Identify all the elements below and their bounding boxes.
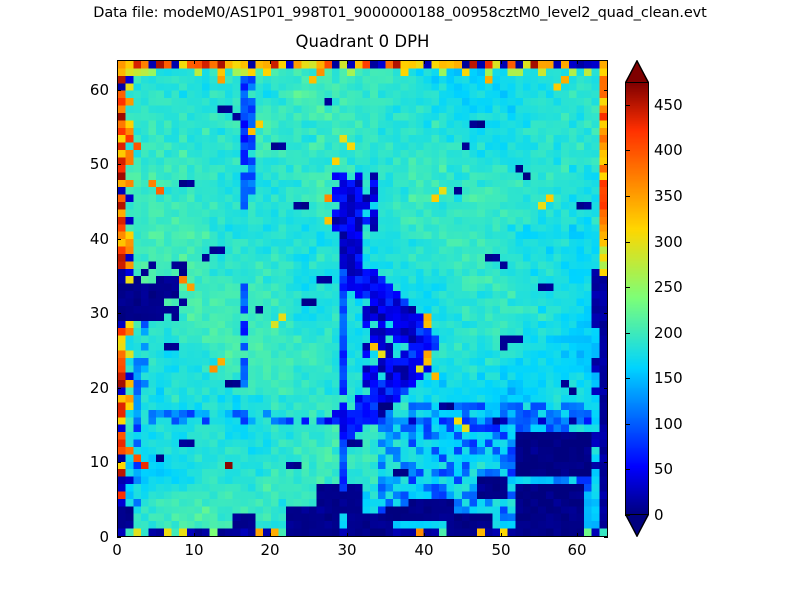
matplotlib-figure: Data file: modeM0/AS1P01_998T01_90000001… [0,0,800,600]
x-tick-mark-top [501,60,502,64]
colorbar-tick-label: 250 [654,278,683,296]
x-tick-mark-top [347,60,348,64]
x-tick-mark [347,533,348,537]
detector-plane-histogram [118,61,607,536]
x-tick-label: 50 [471,541,531,559]
x-tick-label: 10 [164,541,224,559]
y-tick-mark-right [604,164,608,165]
x-tick-label: 30 [317,541,377,559]
y-tick-mark-right [604,537,608,538]
y-tick-mark [117,462,121,463]
colorbar [625,60,649,537]
colorbar-tick-mark [625,378,630,379]
colorbar-tick-label: 300 [654,233,683,251]
figure-suptitle: Data file: modeM0/AS1P01_998T01_90000001… [0,5,800,21]
colorbar-tick-label: 200 [654,324,683,342]
y-tick-mark-right [604,90,608,91]
y-tick-mark [117,313,121,314]
y-tick-mark-right [604,388,608,389]
y-tick-mark [117,537,121,538]
colorbar-tick-mark [625,424,630,425]
x-tick-mark-top [270,60,271,64]
colorbar-extend-max-outline [625,60,649,83]
y-tick-mark [117,388,121,389]
colorbar-gradient [625,82,649,515]
x-tick-label: 40 [394,541,454,559]
colorbar-tick-label: 450 [654,96,683,114]
y-tick-mark [117,239,121,240]
x-tick-label: 20 [240,541,300,559]
y-tick-label: 10 [57,453,109,471]
y-tick-mark-right [604,313,608,314]
colorbar-tick-label: 350 [654,187,683,205]
y-tick-mark-right [604,462,608,463]
colorbar-tick-label: 150 [654,369,683,387]
x-tick-mark-top [424,60,425,64]
y-tick-label: 40 [57,230,109,248]
x-tick-mark-top [577,60,578,64]
y-tick-mark-right [604,239,608,240]
y-tick-label: 60 [57,81,109,99]
x-tick-mark [194,533,195,537]
y-tick-mark [117,164,121,165]
colorbar-tick-mark [625,287,630,288]
x-tick-mark-top [194,60,195,64]
x-tick-mark [424,533,425,537]
y-tick-label: 0 [57,528,109,546]
colorbar-tick-label: 50 [654,460,673,478]
y-tick-label: 50 [57,155,109,173]
colorbar-tick-mark [625,242,630,243]
x-tick-label: 60 [547,541,607,559]
colorbar-tick-label: 100 [654,415,683,433]
colorbar-tick-mark [625,105,630,106]
x-tick-mark [577,533,578,537]
x-tick-mark [270,533,271,537]
colorbar-tick-label: 0 [654,506,664,524]
colorbar-tick-mark [625,333,630,334]
y-tick-label: 30 [57,304,109,322]
colorbar-tick-mark [625,469,630,470]
colorbar-tick-mark [625,150,630,151]
heatmap-axes [117,60,608,537]
y-tick-mark [117,90,121,91]
colorbar-extend-min-outline [625,514,649,537]
x-tick-mark-top [117,60,118,64]
colorbar-tick-mark [625,515,630,516]
y-tick-label: 20 [57,379,109,397]
colorbar-tick-mark [625,196,630,197]
colorbar-tick-label: 400 [654,141,683,159]
page-title: Quadrant 0 DPH [117,32,608,51]
x-tick-mark [501,533,502,537]
